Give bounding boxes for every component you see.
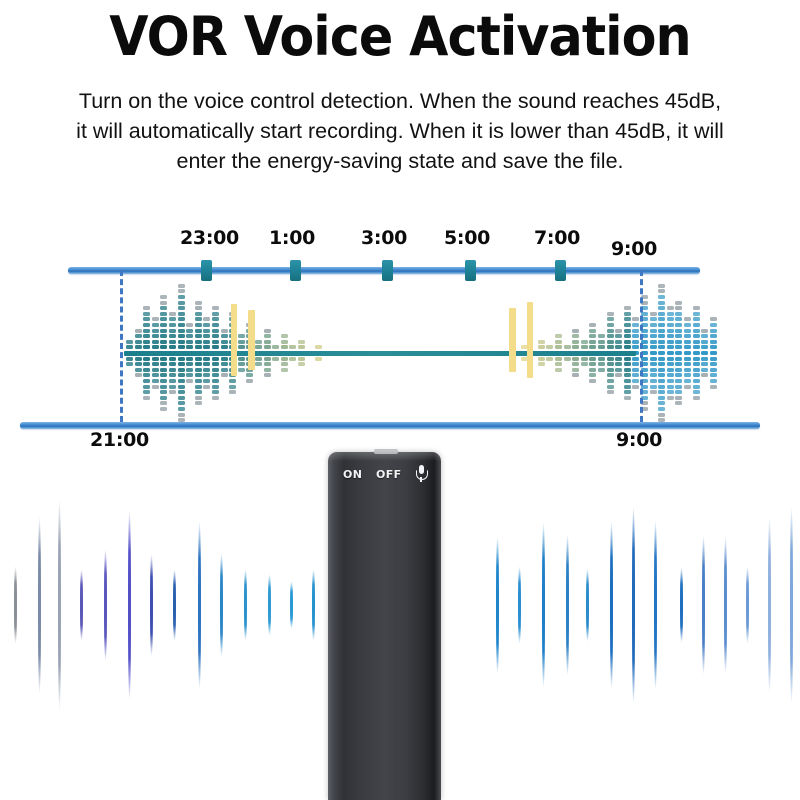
spectrum-block bbox=[178, 289, 185, 293]
spectrum-block bbox=[221, 345, 228, 349]
microphone-stem bbox=[420, 477, 422, 482]
spectrum-block bbox=[684, 329, 691, 333]
spectrum-block bbox=[555, 334, 562, 338]
spectrum-block bbox=[135, 329, 142, 333]
spectrum-block bbox=[195, 329, 202, 333]
spectrum-block bbox=[143, 317, 150, 321]
spectrum-block bbox=[169, 373, 176, 377]
spectrum-block bbox=[598, 368, 605, 372]
spectrum-block bbox=[607, 379, 614, 383]
spectrum-block bbox=[607, 385, 614, 389]
waveform-bar bbox=[518, 566, 521, 644]
spectrum-block bbox=[212, 312, 219, 316]
spectrum-block bbox=[624, 317, 631, 321]
spectrum-block bbox=[667, 323, 674, 327]
spectrum-block bbox=[624, 373, 631, 377]
spectrum-block bbox=[581, 362, 588, 366]
spectrum-block bbox=[195, 345, 202, 349]
spectrum-block bbox=[572, 357, 579, 361]
spectrum-block bbox=[203, 373, 210, 377]
spectrum-block bbox=[178, 317, 185, 321]
spectrum-block bbox=[555, 357, 562, 361]
spectrum-block bbox=[675, 345, 682, 349]
spectrum-block bbox=[160, 368, 167, 372]
spectrum-block bbox=[264, 357, 271, 361]
spectrum-block bbox=[632, 385, 639, 389]
spectrum-block bbox=[675, 385, 682, 389]
spectrum-block bbox=[212, 385, 219, 389]
spectrum-block bbox=[607, 390, 614, 394]
spectrum-block bbox=[203, 329, 210, 333]
spectrum-block bbox=[675, 362, 682, 366]
spectrum-block bbox=[710, 373, 717, 377]
threshold-bar bbox=[231, 304, 237, 376]
spectrum-block bbox=[710, 357, 717, 361]
spectrum-block bbox=[632, 317, 639, 321]
spectrum-block bbox=[152, 362, 159, 366]
recording-boundary-dash bbox=[640, 270, 643, 422]
spectrum-block bbox=[658, 362, 665, 366]
spectrum-block bbox=[650, 385, 657, 389]
spectrum-block bbox=[675, 317, 682, 321]
spectrum-block bbox=[178, 407, 185, 411]
spectrum-block bbox=[667, 396, 674, 400]
spectrum-block bbox=[693, 373, 700, 377]
spectrum-block bbox=[710, 329, 717, 333]
spectrum-block bbox=[710, 323, 717, 327]
spectrum-block bbox=[710, 345, 717, 349]
spectrum-block bbox=[178, 295, 185, 299]
spectrum-block bbox=[538, 340, 545, 344]
spectrum-block bbox=[160, 340, 167, 344]
spectrum-block bbox=[658, 295, 665, 299]
spectrum-block bbox=[281, 357, 288, 361]
spectrum-block bbox=[607, 362, 614, 366]
spectrum-block bbox=[710, 368, 717, 372]
spectrum-block bbox=[289, 345, 296, 349]
standby-midline bbox=[124, 351, 636, 356]
spectrum-block bbox=[650, 390, 657, 394]
spectrum-block bbox=[572, 368, 579, 372]
spectrum-block bbox=[203, 345, 210, 349]
spectrum-block bbox=[589, 373, 596, 377]
spectrum-block bbox=[589, 357, 596, 361]
spectrum-block bbox=[658, 301, 665, 305]
spectrum-block bbox=[624, 329, 631, 333]
spectrum-block bbox=[675, 379, 682, 383]
spectrum-block bbox=[572, 334, 579, 338]
spectrum-block bbox=[693, 312, 700, 316]
spectrum-block bbox=[178, 301, 185, 305]
spectrum-block bbox=[675, 390, 682, 394]
spectrum-block bbox=[675, 312, 682, 316]
spectrum-block bbox=[675, 323, 682, 327]
spectrum-block bbox=[658, 334, 665, 338]
page-title: VOR Voice Activation bbox=[24, 6, 776, 68]
spectrum-block bbox=[615, 340, 622, 344]
spectrum-block bbox=[589, 368, 596, 372]
spectrum-block bbox=[572, 362, 579, 366]
spectrum-block bbox=[135, 340, 142, 344]
waveform-bar bbox=[496, 536, 499, 674]
spectrum-block bbox=[178, 306, 185, 310]
spectrum-block bbox=[658, 289, 665, 293]
spectrum-block bbox=[650, 329, 657, 333]
spectrum-block bbox=[186, 334, 193, 338]
spectrum-block bbox=[160, 390, 167, 394]
spectrum-block bbox=[178, 345, 185, 349]
spectrum-block bbox=[212, 362, 219, 366]
spectrum-block bbox=[212, 379, 219, 383]
spectrum-block bbox=[615, 345, 622, 349]
spectrum-block bbox=[615, 329, 622, 333]
spectrum-block bbox=[624, 323, 631, 327]
spectrum-block bbox=[667, 351, 674, 355]
spectrum-block bbox=[658, 373, 665, 377]
waveform-bar bbox=[542, 522, 545, 688]
spectrum-block bbox=[701, 351, 708, 355]
spectrum-block bbox=[667, 362, 674, 366]
spectrum-block bbox=[658, 312, 665, 316]
spectrum-block bbox=[152, 357, 159, 361]
spectrum-block bbox=[178, 396, 185, 400]
spectrum-block bbox=[195, 312, 202, 316]
spectrum-block bbox=[701, 334, 708, 338]
device-on-label: ON bbox=[343, 468, 362, 481]
waveform-bar bbox=[586, 568, 589, 642]
waveform-bar bbox=[632, 506, 635, 704]
bottom-timeline-rail bbox=[20, 422, 760, 429]
spectrum-block bbox=[212, 390, 219, 394]
spectrum-block bbox=[701, 340, 708, 344]
bottom-axis-start-label: 21:00 bbox=[90, 429, 149, 451]
waveform-bar bbox=[173, 569, 176, 641]
spectrum-block bbox=[675, 401, 682, 405]
spectrum-block bbox=[238, 357, 245, 361]
spectrum-block bbox=[675, 329, 682, 333]
spectrum-block bbox=[650, 351, 657, 355]
spectrum-block bbox=[221, 334, 228, 338]
top-axis-label: 3:00 bbox=[361, 227, 407, 249]
spectrum-block bbox=[212, 396, 219, 400]
spectrum-block bbox=[126, 345, 133, 349]
spectrum-block bbox=[667, 317, 674, 321]
spectrum-block bbox=[298, 362, 305, 366]
spectrum-block bbox=[221, 368, 228, 372]
spectrum-block bbox=[186, 379, 193, 383]
spectrum-block bbox=[212, 345, 219, 349]
spectrum-block bbox=[135, 334, 142, 338]
spectrum-block bbox=[650, 345, 657, 349]
spectrum-block bbox=[675, 373, 682, 377]
spectrum-block bbox=[658, 351, 665, 355]
spectrum-block bbox=[169, 345, 176, 349]
spectrum-block bbox=[632, 340, 639, 344]
spectrum-block bbox=[684, 345, 691, 349]
waveform-bar bbox=[198, 521, 201, 689]
spectrum-block bbox=[693, 368, 700, 372]
description-line-1: Turn on the voice control detection. Whe… bbox=[8, 86, 792, 116]
spectrum-block bbox=[264, 340, 271, 344]
spectrum-block bbox=[169, 379, 176, 383]
spectrum-block bbox=[238, 362, 245, 366]
spectrum-block bbox=[684, 379, 691, 383]
spectrum-block bbox=[152, 345, 159, 349]
spectrum-block bbox=[546, 345, 553, 349]
spectrum-block bbox=[693, 334, 700, 338]
spectrum-block bbox=[195, 317, 202, 321]
spectrum-block bbox=[143, 312, 150, 316]
recording-boundary-dash bbox=[120, 270, 123, 422]
spectrum-block bbox=[598, 345, 605, 349]
spectrum-block bbox=[160, 407, 167, 411]
description-line-3: enter the energy-saving state and save t… bbox=[8, 146, 792, 176]
spectrum-block bbox=[650, 362, 657, 366]
timeline-tick bbox=[382, 260, 393, 281]
spectrum-block bbox=[684, 385, 691, 389]
spectrum-block bbox=[195, 362, 202, 366]
spectrum-block bbox=[212, 373, 219, 377]
spectrum-block bbox=[203, 368, 210, 372]
spectrum-block bbox=[684, 351, 691, 355]
spectrum-block bbox=[684, 362, 691, 366]
spectrum-block bbox=[710, 340, 717, 344]
spectrum-block bbox=[658, 345, 665, 349]
spectrum-block bbox=[195, 379, 202, 383]
spectrum-block bbox=[281, 368, 288, 372]
spectrum-block bbox=[675, 301, 682, 305]
spectrum-block bbox=[693, 329, 700, 333]
spectrum-block bbox=[650, 357, 657, 361]
spectrum-block bbox=[693, 351, 700, 355]
spectrum-block bbox=[315, 357, 322, 361]
spectrum-block bbox=[650, 323, 657, 327]
spectrum-block bbox=[264, 334, 271, 338]
spectrum-block bbox=[701, 357, 708, 361]
spectrum-block bbox=[221, 340, 228, 344]
waveform-bar bbox=[268, 574, 271, 636]
spectrum-block bbox=[126, 362, 133, 366]
spectrum-block bbox=[624, 385, 631, 389]
spectrum-block bbox=[624, 396, 631, 400]
spectrum-block bbox=[143, 368, 150, 372]
spectrum-block bbox=[667, 329, 674, 333]
waveform-bar bbox=[610, 521, 613, 689]
spectrum-block bbox=[615, 357, 622, 361]
spectrum-block bbox=[203, 334, 210, 338]
spectrum-block bbox=[152, 329, 159, 333]
spectrum-block bbox=[281, 340, 288, 344]
spectrum-block bbox=[538, 357, 545, 361]
spectrum-block bbox=[169, 312, 176, 316]
spectrum-block bbox=[658, 329, 665, 333]
waveform-bar bbox=[58, 499, 61, 711]
spectrum-block bbox=[624, 312, 631, 316]
spectrum-block bbox=[143, 373, 150, 377]
spectrum-block bbox=[589, 362, 596, 366]
vor-timeline-diagram: 23:001:003:005:007:00 9:00 21:00 9:00 bbox=[0, 210, 800, 450]
waveform-bar bbox=[244, 569, 247, 641]
spectrum-block bbox=[701, 362, 708, 366]
spectrum-block bbox=[152, 317, 159, 321]
spectrum-block bbox=[178, 379, 185, 383]
spectrum-block bbox=[186, 345, 193, 349]
spectrum-block bbox=[667, 306, 674, 310]
spectrum-block bbox=[555, 340, 562, 344]
spectrum-block bbox=[281, 362, 288, 366]
spectrum-block bbox=[581, 345, 588, 349]
timeline-tick bbox=[555, 260, 566, 281]
spectrum-block bbox=[160, 385, 167, 389]
spectrum-block bbox=[178, 362, 185, 366]
spectrum-block bbox=[650, 379, 657, 383]
spectrum-block bbox=[195, 340, 202, 344]
top-axis-label: 7:00 bbox=[534, 227, 580, 249]
spectrum-block bbox=[675, 306, 682, 310]
page-root: VOR Voice Activation Turn on the voice c… bbox=[0, 0, 800, 800]
spectrum-block bbox=[607, 329, 614, 333]
spectrum-block bbox=[572, 329, 579, 333]
spectrum-block bbox=[135, 362, 142, 366]
waveform-bar bbox=[312, 569, 315, 641]
spectrum-block bbox=[229, 390, 236, 394]
spectrum-block bbox=[693, 385, 700, 389]
spectrum-block bbox=[264, 362, 271, 366]
spectrum-block bbox=[667, 340, 674, 344]
spectrum-block bbox=[255, 362, 262, 366]
waveform-bar bbox=[724, 536, 727, 674]
spectrum-block bbox=[684, 340, 691, 344]
spectrum-block bbox=[203, 323, 210, 327]
spectrum-block bbox=[624, 357, 631, 361]
waveform-bar bbox=[680, 567, 683, 643]
waveform-bar bbox=[566, 534, 569, 676]
spectrum-block bbox=[658, 390, 665, 394]
spectrum-block bbox=[658, 340, 665, 344]
top-axis-label: 23:00 bbox=[180, 227, 239, 249]
spectrum-block bbox=[169, 362, 176, 366]
spectrum-block bbox=[564, 345, 571, 349]
spectrum-block bbox=[203, 340, 210, 344]
spectrum-block bbox=[212, 306, 219, 310]
spectrum-block bbox=[675, 357, 682, 361]
spectrum-block bbox=[710, 351, 717, 355]
waveform-bar bbox=[768, 516, 771, 694]
spectrum-block bbox=[607, 345, 614, 349]
spectrum-block bbox=[272, 357, 279, 361]
spectrum-block bbox=[160, 301, 167, 305]
spectrum-block bbox=[238, 334, 245, 338]
spectrum-block bbox=[555, 345, 562, 349]
waveform-bar bbox=[38, 516, 41, 694]
spectrum-block bbox=[169, 334, 176, 338]
spectrum-block bbox=[650, 334, 657, 338]
spectrum-block bbox=[684, 317, 691, 321]
spectrum-block bbox=[693, 379, 700, 383]
threshold-bar bbox=[527, 302, 533, 378]
spectrum-block bbox=[607, 373, 614, 377]
spectrum-block bbox=[298, 340, 305, 344]
spectrum-block bbox=[186, 323, 193, 327]
spectrum-block bbox=[658, 379, 665, 383]
spectrum-block bbox=[615, 373, 622, 377]
timeline-tick bbox=[290, 260, 301, 281]
spectrum-block bbox=[650, 317, 657, 321]
waveform-bar bbox=[128, 510, 131, 700]
spectrum-block bbox=[624, 390, 631, 394]
spectrum-block bbox=[160, 357, 167, 361]
spectrum-block bbox=[684, 323, 691, 327]
spectrum-block bbox=[126, 340, 133, 344]
spectrum-block bbox=[701, 373, 708, 377]
spectrum-block bbox=[710, 334, 717, 338]
spectrum-block bbox=[160, 373, 167, 377]
spectrum-block bbox=[701, 368, 708, 372]
spectrum-block bbox=[195, 373, 202, 377]
spectrum-block bbox=[178, 413, 185, 417]
spectrum-block bbox=[667, 312, 674, 316]
spectrum-block bbox=[229, 385, 236, 389]
spectrum-block bbox=[195, 334, 202, 338]
spectrum-block bbox=[221, 373, 228, 377]
timeline-tick bbox=[201, 260, 212, 281]
spectrum-block bbox=[684, 334, 691, 338]
spectrum-block bbox=[195, 323, 202, 327]
spectrum-block bbox=[203, 385, 210, 389]
spectrum-block bbox=[203, 357, 210, 361]
spectrum-block bbox=[195, 357, 202, 361]
spectrum-block bbox=[169, 385, 176, 389]
spectrum-block bbox=[632, 373, 639, 377]
spectrum-block bbox=[169, 329, 176, 333]
spectrum-block bbox=[632, 379, 639, 383]
spectrum-block bbox=[693, 345, 700, 349]
spectrum-block bbox=[178, 401, 185, 405]
waveform-bar bbox=[150, 554, 153, 656]
spectrum-block bbox=[667, 368, 674, 372]
spectrum-block bbox=[615, 368, 622, 372]
spectrum-block bbox=[624, 368, 631, 372]
spectrum-block bbox=[169, 340, 176, 344]
spectrum-block bbox=[221, 329, 228, 333]
spectrum-block bbox=[195, 306, 202, 310]
spectrum-block bbox=[186, 340, 193, 344]
spectrum-block bbox=[589, 329, 596, 333]
spectrum-block bbox=[160, 312, 167, 316]
spectrum-block bbox=[195, 390, 202, 394]
microphone-icon bbox=[416, 465, 426, 482]
spectrum-block bbox=[143, 396, 150, 400]
spectrum-block bbox=[135, 345, 142, 349]
spectrum-block bbox=[624, 306, 631, 310]
spectrum-block bbox=[607, 312, 614, 316]
spectrum-block bbox=[632, 362, 639, 366]
spectrum-block bbox=[160, 334, 167, 338]
spectrum-block bbox=[658, 357, 665, 361]
spectrum-block bbox=[160, 345, 167, 349]
spectrum-block bbox=[598, 334, 605, 338]
spectrum-block bbox=[650, 340, 657, 344]
spectrum-block bbox=[607, 317, 614, 321]
spectrum-block bbox=[281, 334, 288, 338]
waveform-bar bbox=[702, 535, 705, 675]
spectrum-block bbox=[178, 368, 185, 372]
spectrum-block bbox=[650, 368, 657, 372]
spectrum-block bbox=[538, 362, 545, 366]
spectrum-block bbox=[624, 379, 631, 383]
spectrum-block bbox=[178, 334, 185, 338]
waveform-bar bbox=[790, 506, 793, 704]
